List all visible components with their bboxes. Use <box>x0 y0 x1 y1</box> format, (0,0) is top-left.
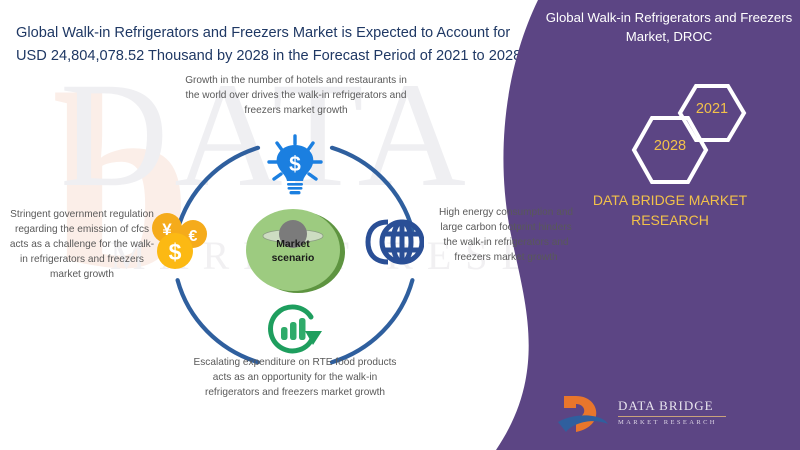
logo-divider <box>618 416 726 417</box>
brand-name: DATA BRIDGE MARKET RESEARCH <box>560 190 780 231</box>
slide-canvas: b DATA BRI MARKET RESEARCH Global Walk-i… <box>0 0 800 450</box>
center-label-line-2: scenario <box>249 252 337 266</box>
restraint-text-right: High energy consumption and large carbon… <box>432 206 580 266</box>
logo-line-1: DATA BRIDGE <box>618 398 726 414</box>
center-node-label: Market scenario <box>249 238 337 266</box>
svg-text:$: $ <box>169 239 182 265</box>
company-logo: DATA BRIDGE MARKET RESEARCH <box>556 392 726 438</box>
challenge-text-left: Stringent government regulation regardin… <box>8 208 156 283</box>
lightbulb-dollar-icon: $ <box>260 134 330 196</box>
brand-line-1: DATA BRIDGE MARKET <box>560 190 780 210</box>
brand-line-2: RESEARCH <box>560 210 780 230</box>
page-title: Global Walk-in Refrigerators and Freezer… <box>16 22 524 67</box>
driver-text-top: Growth in the number of hotels and resta… <box>178 74 414 119</box>
opportunity-text-bottom: Escalating expenditure on RTE food produ… <box>190 356 400 401</box>
svg-text:$: $ <box>289 153 301 176</box>
center-label-line-1: Market <box>249 238 337 252</box>
hexagon-2021-label: 2021 <box>680 101 744 117</box>
globe-plug-icon <box>362 212 424 272</box>
growth-chart-arrow-icon <box>263 303 327 355</box>
side-panel-title: Global Walk-in Refrigerators and Freezer… <box>545 8 793 46</box>
hexagon-group: 2021 2028 <box>610 80 760 200</box>
hexagon-2028-label: 2028 <box>638 138 702 154</box>
logo-line-2: MARKET RESEARCH <box>618 419 726 426</box>
